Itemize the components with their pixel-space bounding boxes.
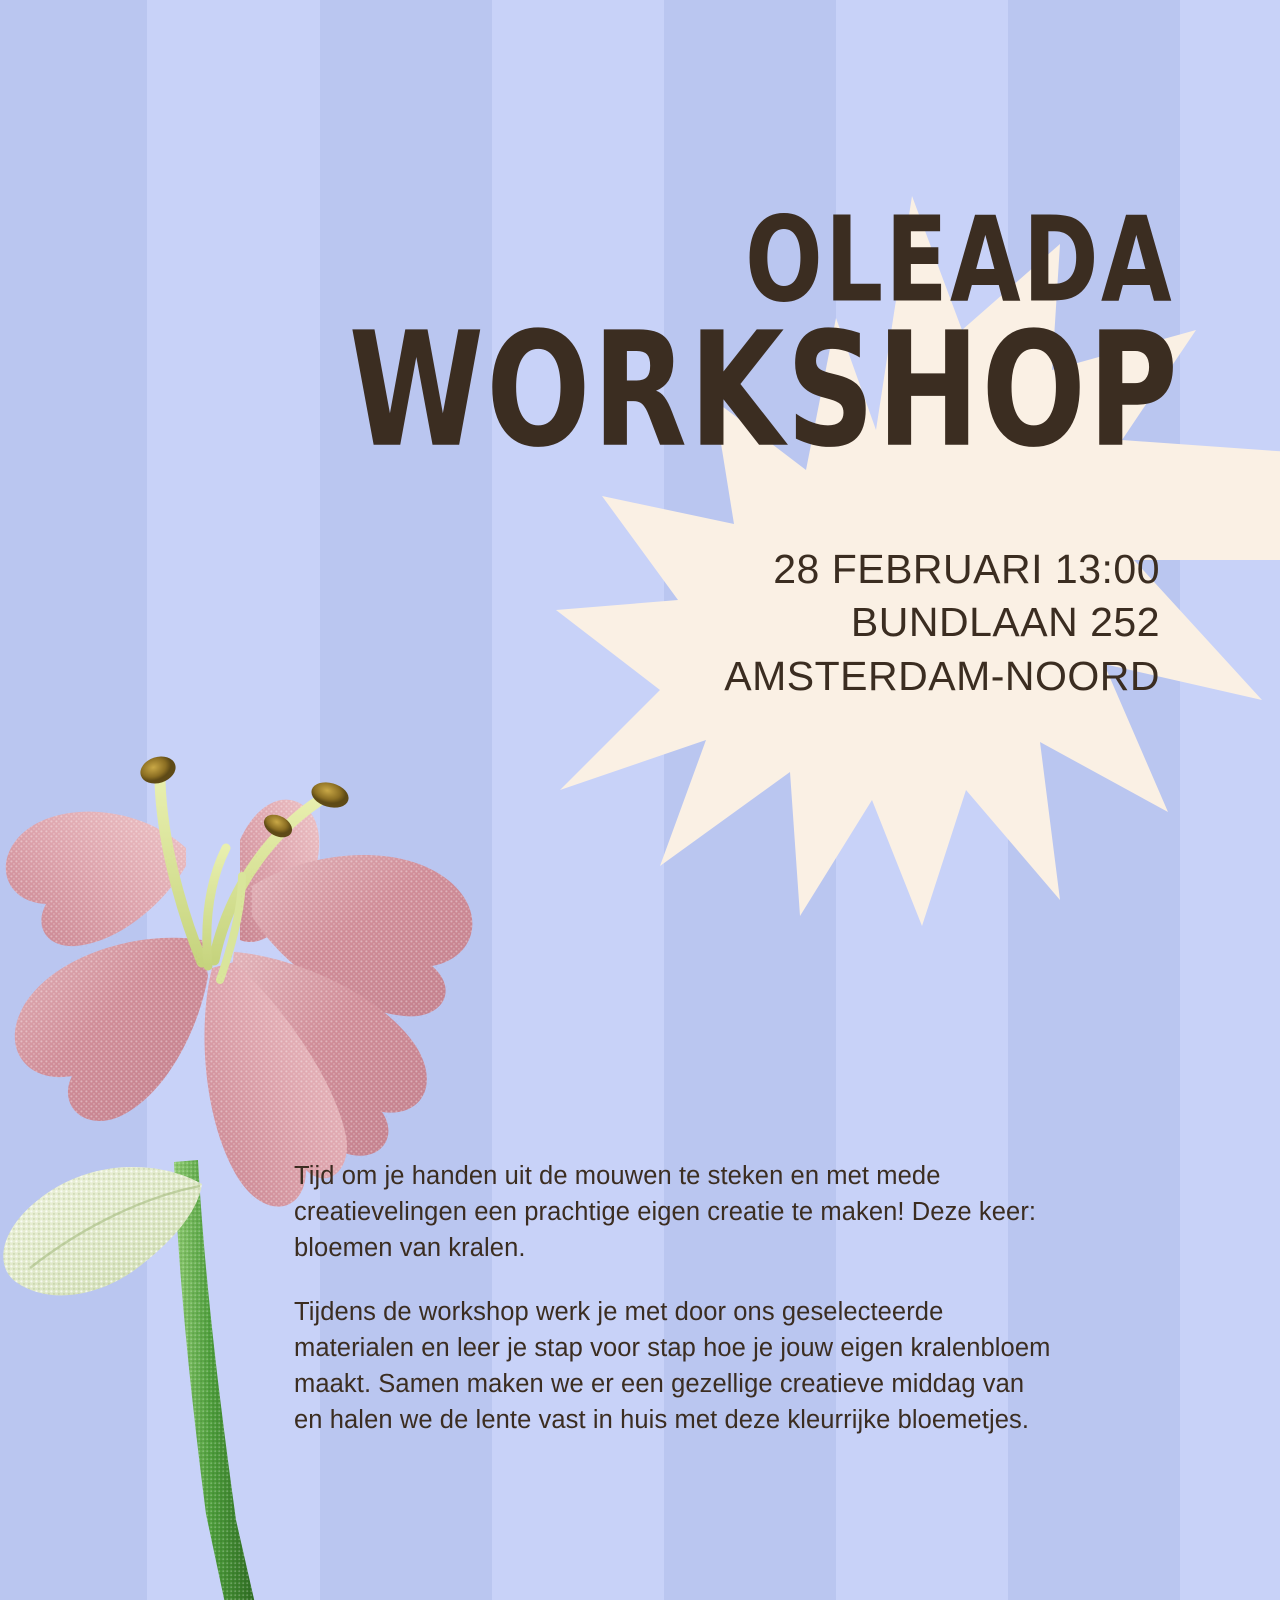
headline-line-1: OLEADA	[0, 209, 1180, 310]
event-street: BUNDLAAN 252	[500, 596, 1160, 649]
event-details: 28 FEBRUARI 13:00 BUNDLAAN 252 AMSTERDAM…	[500, 543, 1160, 703]
body-paragraph-2: Tijdens de workshop werk je met door ons…	[294, 1294, 1054, 1439]
body-copy: Tijd om je handen uit de mouwen te steke…	[294, 1158, 1054, 1438]
page-title: OLEADA WORKSHOP	[0, 222, 1180, 441]
event-city: AMSTERDAM-NOORD	[500, 650, 1160, 703]
event-date-time: 28 FEBRUARI 13:00	[500, 543, 1160, 596]
flower-leaf	[3, 1167, 202, 1295]
anther-left	[137, 752, 179, 788]
poster-canvas: OLEADA WORKSHOP 28 FEBRUARI 13:00 BUNDLA…	[0, 0, 1280, 1600]
body-paragraph-1: Tijd om je handen uit de mouwen te steke…	[294, 1158, 1054, 1267]
flower-stem	[174, 1160, 256, 1600]
headline-line-2: WORKSHOP	[0, 322, 1180, 458]
beaded-lily-flower	[0, 690, 510, 1600]
